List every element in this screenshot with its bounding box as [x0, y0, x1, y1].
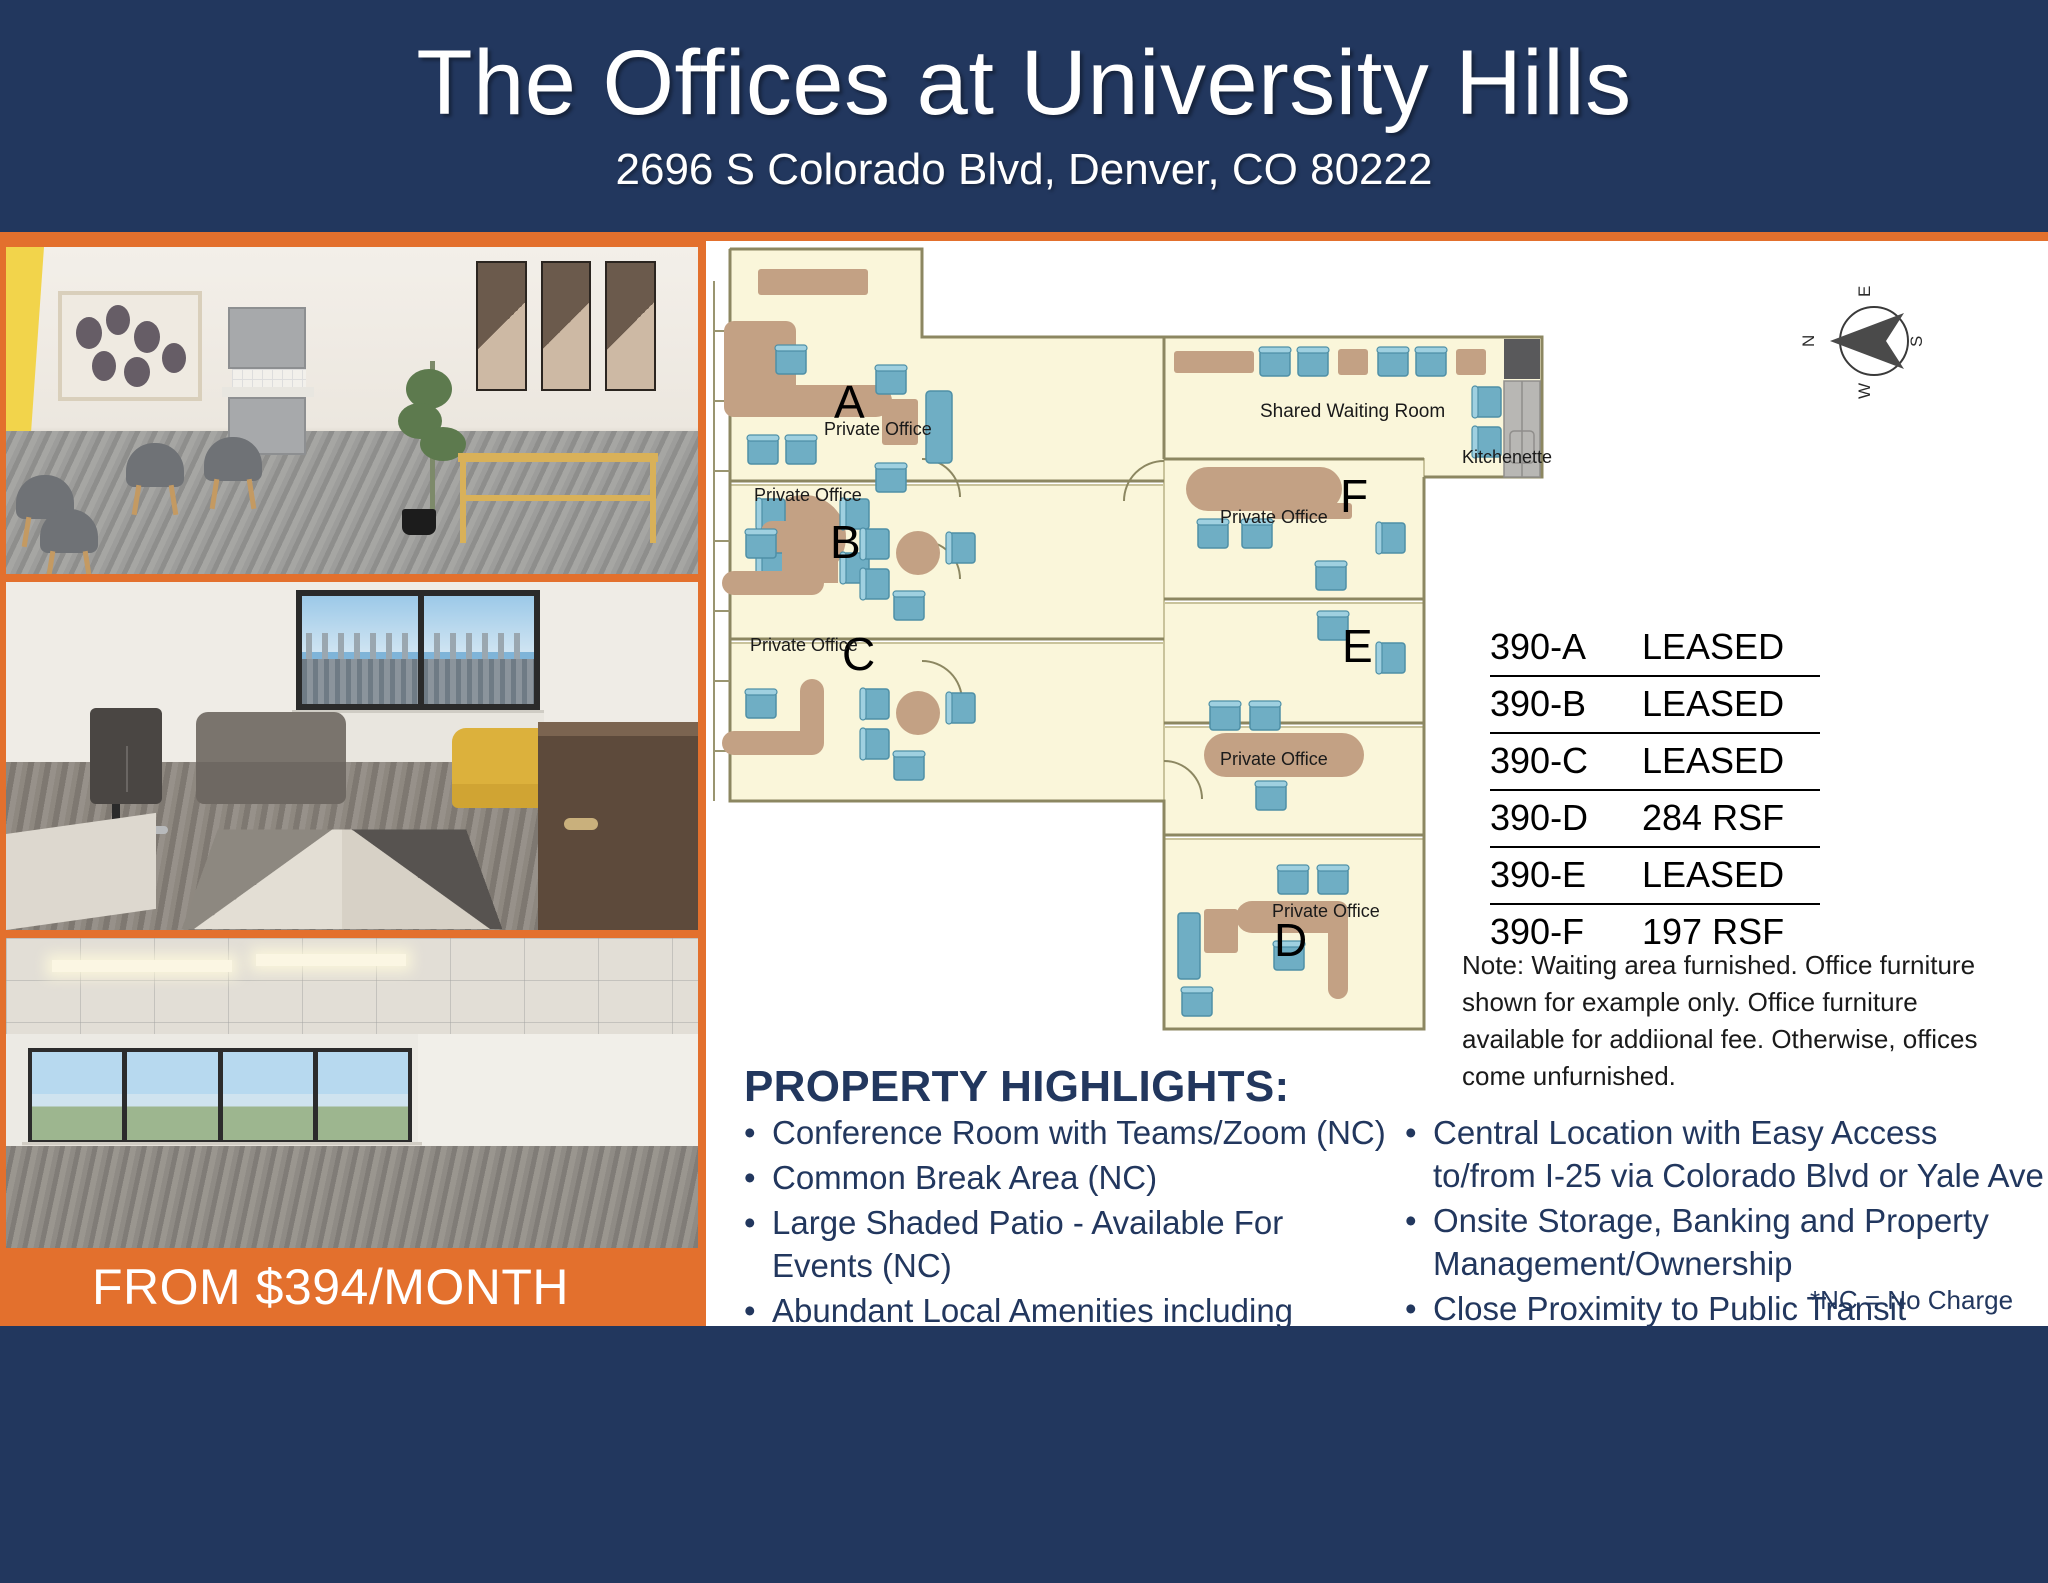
svg-text:S: S: [1907, 336, 1926, 347]
kitchen-backsplash: [232, 369, 306, 389]
geometric-wall-panels: [476, 261, 656, 391]
suite-status: 284 RSF: [1642, 797, 1820, 839]
highlight-text: Conference Room with Teams/Zoom (NC): [772, 1112, 1393, 1155]
loveseat-sofa: [196, 712, 346, 822]
highlight-text: Large Shaded Patio - Available For Event…: [772, 1202, 1393, 1288]
table-row: 390-C LEASED: [1490, 732, 1820, 789]
room-type-d: Private Office: [1272, 901, 1380, 922]
price-text: FROM $394/MONTH: [92, 1258, 569, 1316]
flyer-page: The Offices at University Hills 2696 S C…: [0, 0, 2048, 1583]
room-letter-b: B: [830, 515, 861, 569]
svg-text:N: N: [1799, 335, 1818, 347]
list-item: • Large Shaded Patio - Available For Eve…: [744, 1202, 1393, 1288]
planter-pot: [402, 509, 436, 535]
room-type-f: Private Office: [1220, 507, 1328, 528]
wall-artwork: [58, 291, 202, 401]
page-title: The Offices at University Hills: [416, 37, 1631, 131]
header-accent-rule: [0, 232, 2048, 241]
suite-status: LEASED: [1642, 683, 1820, 725]
photo-column: FROM $394/MONTH: [0, 241, 706, 1326]
bullet-icon: •: [744, 1157, 772, 1200]
svg-text:W: W: [1855, 383, 1874, 399]
suite-id: 390-A: [1490, 626, 1642, 668]
table-row: 390-E LEASED: [1490, 846, 1820, 903]
suite-id: 390-D: [1490, 797, 1642, 839]
compass-rose: N E S W: [1799, 286, 1926, 399]
suite-availability-table: 390-A LEASED 390-B LEASED 390-C LEASED 3…: [1490, 620, 1820, 960]
room-type-a: Private Office: [824, 419, 932, 440]
highlights-title: PROPERTY HIGHLIGHTS:: [744, 1062, 1289, 1112]
waiting-room-photo: [6, 247, 698, 574]
bullet-icon: •: [1405, 1112, 1433, 1198]
kitchen-upper-cabinet: [228, 307, 306, 369]
ceiling-light: [52, 960, 232, 972]
bullet-icon: •: [744, 1202, 772, 1288]
room-letter-f: F: [1340, 469, 1368, 523]
drop-ceiling: [6, 938, 698, 1038]
suite-id: 390-E: [1490, 854, 1642, 896]
header-banner: The Offices at University Hills 2696 S C…: [0, 0, 2048, 232]
floor-plan-note: Note: Waiting area furnished. Office fur…: [1462, 947, 2022, 1095]
room-type-c: Private Office: [750, 635, 858, 656]
waiting-chair: [40, 509, 98, 574]
table-row: 390-D 284 RSF: [1490, 789, 1820, 846]
bullet-icon: •: [1405, 1288, 1433, 1331]
list-item: • Conference Room with Teams/Zoom (NC): [744, 1112, 1393, 1155]
bullet-icon: •: [744, 1112, 772, 1155]
footer-banner: For leasing information please contact: …: [0, 1326, 2048, 1583]
svg-text:E: E: [1855, 286, 1874, 297]
bullet-icon: •: [1405, 1200, 1433, 1286]
room-type-b: Private Office: [754, 485, 862, 506]
table-row: 390-B LEASED: [1490, 675, 1820, 732]
window-band: [28, 1048, 412, 1144]
kitchenette-label: Kitchenette: [1462, 447, 1552, 468]
highlight-text: Central Location with Easy Access to/fro…: [1433, 1112, 2044, 1198]
no-charge-footnote: *NC = No Charge: [1810, 1285, 2013, 1316]
console-table: [458, 453, 658, 543]
list-item: • Common Break Area (NC): [744, 1157, 1393, 1200]
private-office-photo: [6, 582, 698, 930]
property-address: 2696 S Colorado Blvd, Denver, CO 80222: [616, 145, 1433, 195]
room-type-e: Private Office: [1220, 749, 1328, 770]
suite-status: LEASED: [1642, 626, 1820, 668]
room-letter-e: E: [1342, 619, 1373, 673]
price-banner: FROM $394/MONTH: [0, 1248, 706, 1326]
area-rug: [182, 830, 503, 929]
waiting-chair: [204, 437, 262, 509]
suite-id: 390-B: [1490, 683, 1642, 725]
empty-office-photo: [6, 938, 698, 1268]
wood-credenza: [538, 722, 698, 930]
suite-id: 390-C: [1490, 740, 1642, 782]
ceiling-light: [256, 954, 406, 966]
table-row: 390-A LEASED: [1490, 620, 1820, 675]
highlight-text: Common Break Area (NC): [772, 1157, 1393, 1200]
highlight-text: Onsite Storage, Banking and Property Man…: [1433, 1200, 2044, 1286]
list-item: • Central Location with Easy Access to/f…: [1405, 1112, 2044, 1198]
suite-status: LEASED: [1642, 740, 1820, 782]
kitchen-counter: [222, 387, 314, 397]
suite-status: LEASED: [1642, 854, 1820, 896]
waiting-chair: [126, 443, 184, 515]
office-window: [296, 590, 540, 710]
shared-waiting-room-label: Shared Waiting Room: [1260, 401, 1445, 423]
list-item: • Onsite Storage, Banking and Property M…: [1405, 1200, 2044, 1286]
